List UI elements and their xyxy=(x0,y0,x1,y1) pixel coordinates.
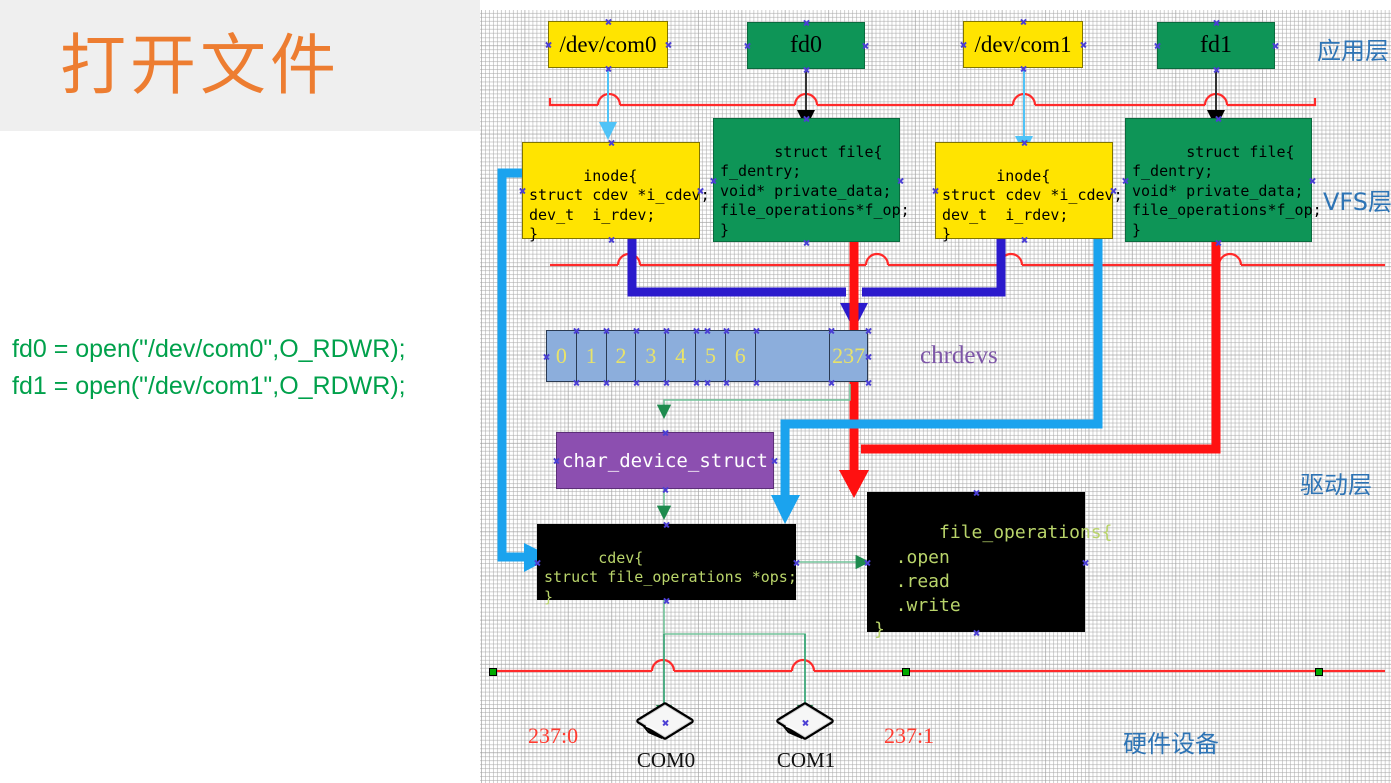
wire-cdev-to-devices xyxy=(664,600,805,653)
layer-label-driver: 驱动层 xyxy=(1300,465,1372,500)
slide-root: 打开文件 fd0 = open("/dev/com0",O_RDWR); fd1… xyxy=(0,0,1391,783)
node-file-operations[interactable]: file_operations{ .open .read .write } xyxy=(867,492,1085,632)
node-char-device-struct[interactable]: char_device_struct xyxy=(556,432,774,489)
node-cdev[interactable]: cdev{ struct file_operations *ops; } xyxy=(537,524,796,600)
diagram-canvas: /dev/com0 fd0 /dev/com1 fd1 inode{ struc… xyxy=(480,0,1391,783)
divider-app-vfs xyxy=(550,94,1315,105)
node-dev-com1[interactable]: /dev/com1 xyxy=(963,21,1083,68)
node-label: fd1 xyxy=(1200,32,1232,59)
node-fd0[interactable]: fd0 xyxy=(747,22,865,69)
layer-label-vfs: VFS层 xyxy=(1323,182,1391,217)
chrdevs-cell-1[interactable]: 1 xyxy=(577,331,607,381)
page-title: 打开文件 xyxy=(60,16,460,116)
device-caption-com0: COM0 xyxy=(630,748,702,773)
node-label: char_device_struct xyxy=(562,450,768,472)
layer-label-hardware: 硬件设备 xyxy=(1123,724,1219,759)
node-fd1[interactable]: fd1 xyxy=(1157,22,1275,69)
slide-left-panel: 打开文件 fd0 = open("/dev/com0",O_RDWR); fd1… xyxy=(0,0,480,783)
node-inode-0[interactable]: inode{ struct cdev *i_cdev; dev_t i_rdev… xyxy=(522,142,700,239)
node-label: fd0 xyxy=(790,32,822,59)
layer-label-application: 应用层 xyxy=(1317,31,1389,66)
node-struct-file-0[interactable]: struct file{ f_dentry; void* private_dat… xyxy=(713,118,900,242)
cyan-arrowhead-mid xyxy=(771,495,800,524)
addr-label-right: 237:1 xyxy=(884,723,934,749)
chrdevs-array[interactable]: 0123456237 xyxy=(546,330,868,382)
node-label: inode{ struct cdev *i_cdev; dev_t i_rdev… xyxy=(529,167,710,244)
node-label: /dev/com0 xyxy=(559,32,656,58)
node-struct-file-1[interactable]: struct file{ f_dentry; void* private_dat… xyxy=(1125,118,1312,242)
chrdevs-cell-3[interactable]: 3 xyxy=(636,331,666,381)
device-icon-com0[interactable] xyxy=(636,702,694,744)
chrdevs-cell-0[interactable]: 0 xyxy=(547,331,577,381)
chrdevs-label: chrdevs xyxy=(920,342,998,370)
node-label: struct file{ f_dentry; void* private_dat… xyxy=(1132,143,1322,239)
chrdevs-cell-6[interactable]: 6 xyxy=(726,331,756,381)
device-caption-com1: COM1 xyxy=(770,748,842,773)
code-line-1: fd1 = open("/dev/com1",O_RDWR); xyxy=(12,372,406,401)
red-arrowhead xyxy=(839,470,869,498)
chrdevs-cell-empty[interactable] xyxy=(756,331,831,381)
node-dev-com0[interactable]: /dev/com0 xyxy=(548,21,668,68)
wire-chrdevs-to-chardevicestruct xyxy=(664,384,850,411)
code-line-0: fd0 = open("/dev/com0",O_RDWR); xyxy=(12,335,406,364)
divider-driver-hardware xyxy=(492,660,1385,671)
node-label: inode{ struct cdev *i_cdev; dev_t i_rdev… xyxy=(942,167,1123,244)
chrdevs-cell-5[interactable]: 5 xyxy=(696,331,726,381)
device-3d-icon xyxy=(636,702,694,744)
chrdevs-cell-2[interactable]: 2 xyxy=(607,331,637,381)
device-3d-icon xyxy=(776,702,834,744)
addr-label-left: 237:0 xyxy=(528,723,578,749)
node-label: /dev/com1 xyxy=(974,32,1071,58)
chrdevs-cell-237[interactable]: 237 xyxy=(830,331,867,381)
node-label: cdev{ struct file_operations *ops; } xyxy=(544,549,797,606)
chrdevs-cell-4[interactable]: 4 xyxy=(666,331,696,381)
node-label: struct file{ f_dentry; void* private_dat… xyxy=(720,143,910,239)
device-icon-com1[interactable] xyxy=(776,702,834,744)
node-label: file_operations{ .open .read .write } xyxy=(874,522,1112,640)
node-inode-1[interactable]: inode{ struct cdev *i_cdev; dev_t i_rdev… xyxy=(935,142,1113,239)
